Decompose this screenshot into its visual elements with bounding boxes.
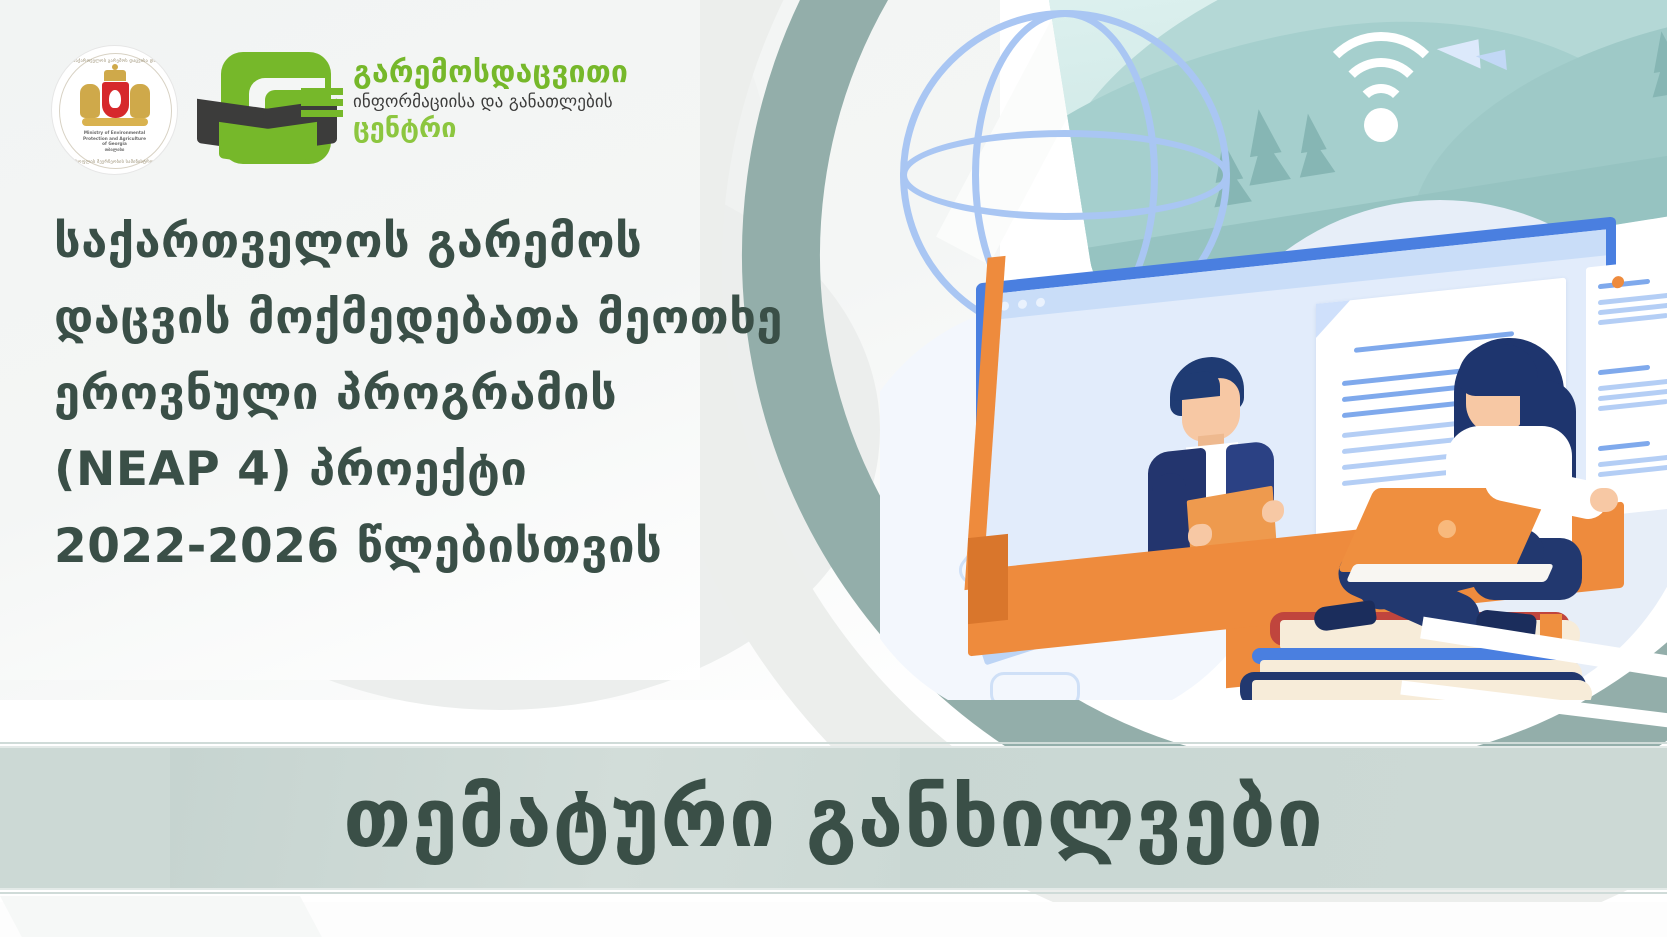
footer-diagonal — [0, 896, 322, 937]
seal-english-text: Ministry of Environmental Protection and… — [52, 130, 177, 153]
ribbon-icon — [82, 118, 148, 126]
seal-en-4: თბილისი — [52, 147, 177, 153]
illustration-panel — [880, 0, 1667, 700]
centre-logo-text: გარემოსდაცვითი ინფორმაციისა და განათლები… — [353, 58, 693, 142]
page-fold — [1316, 300, 1350, 338]
ministry-seal: საქართველოს გარემოს დაცვისა და Ministry … — [52, 46, 177, 174]
banner-title: თემატური განხილვები — [0, 748, 1667, 888]
title-line-3: ეროვნული პროგრამის — [54, 356, 814, 432]
title-line-4: (NEAP 4) პროექტი — [54, 432, 814, 508]
bottom-banner: თემატური განხილვები — [0, 742, 1667, 902]
centre-logo-line2: ინფორმაციისა და განათლების — [353, 92, 693, 113]
banner-rule-bottom-2 — [0, 892, 1667, 894]
woman-with-laptop — [1380, 320, 1667, 650]
title-line-2: დაცვის მოქმედებათა მეოთხე — [54, 280, 814, 356]
page-title: საქართველოს გარემოს დაცვის მოქმედებათა მ… — [54, 204, 814, 585]
centre-logo-line3: ცენტრი — [353, 115, 693, 142]
centre-logo: გარემოსდაცვითი ინფორმაციისა და განათლები… — [215, 52, 685, 168]
wifi-icon — [1316, 32, 1446, 122]
lion-right-icon — [130, 84, 150, 118]
title-line-5: 2022-2026 წლებისთვის — [54, 509, 814, 585]
centre-logo-mark — [215, 52, 337, 164]
poster-canvas: საქართველოს გარემოს დაცვისა და Ministry … — [0, 0, 1667, 937]
title-line-1: საქართველოს გარემოს — [54, 204, 814, 280]
crown-icon — [104, 70, 126, 81]
centre-logo-line1: გარემოსდაცვითი — [353, 58, 693, 88]
capsule-icon — [990, 672, 1080, 700]
seal-arc-text-bottom: სოფლის მეურნეობის სამინისტრო — [52, 160, 177, 165]
georgia-shield-icon — [102, 82, 129, 118]
monitor-base-shadow — [968, 534, 1008, 624]
lion-left-icon — [80, 84, 100, 118]
banner-rule-bottom — [0, 888, 1667, 890]
header-logos: საქართველოს გარემოს დაცვისა და Ministry … — [0, 0, 700, 200]
banner-rule-top — [0, 742, 1667, 744]
